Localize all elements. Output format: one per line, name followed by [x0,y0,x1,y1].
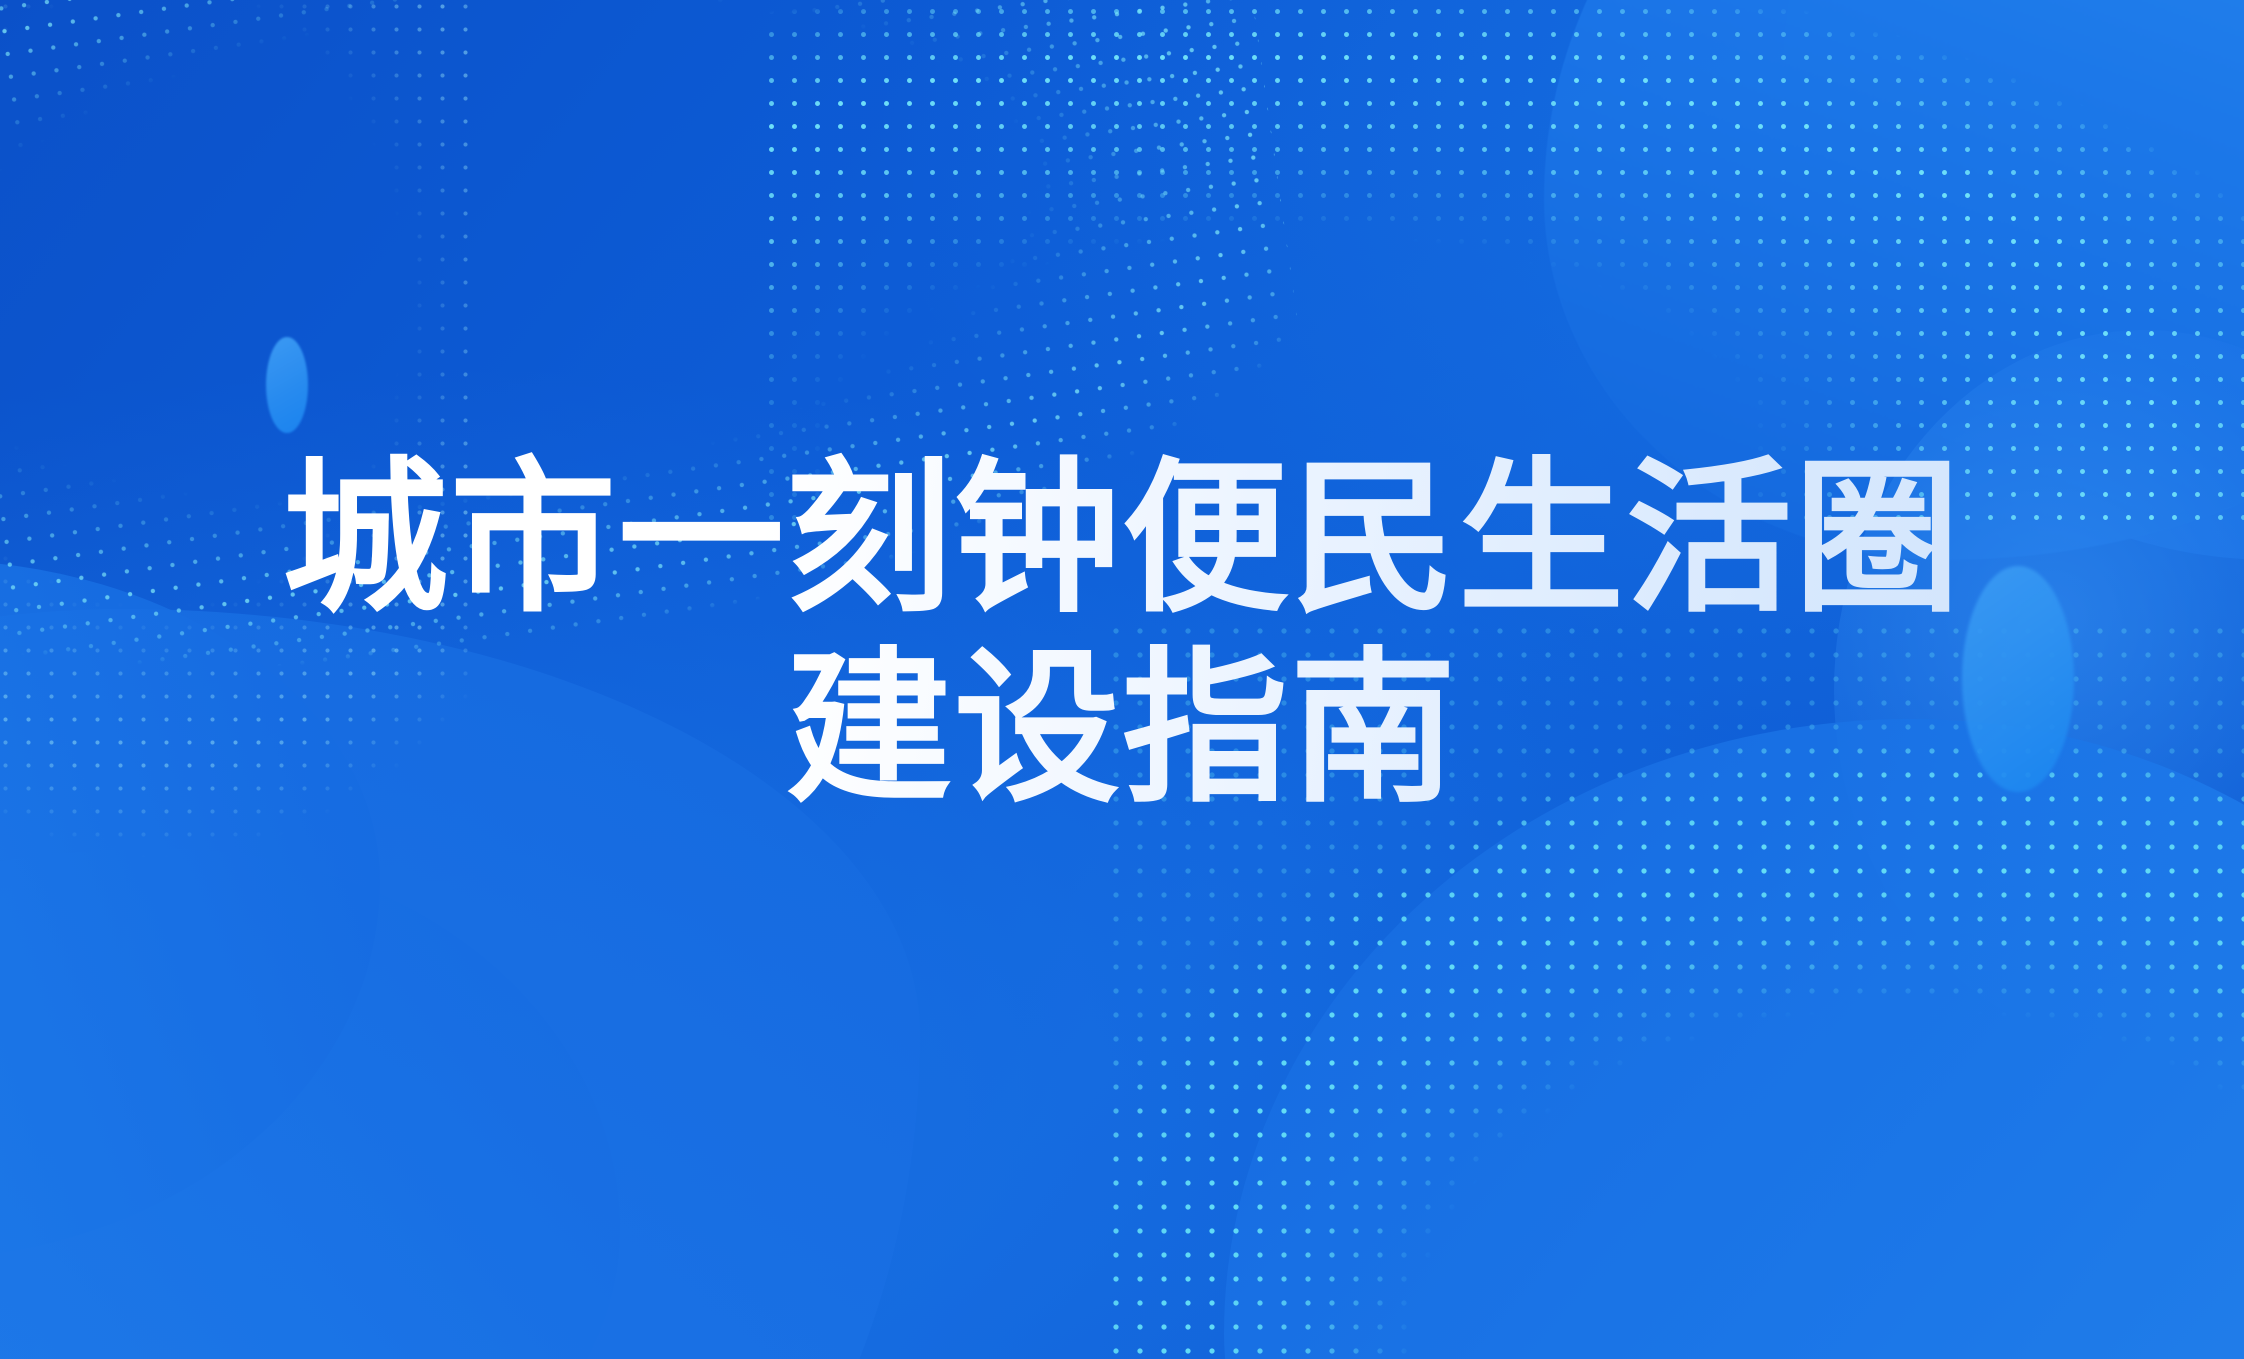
poster-title: 城市一刻钟便民生活圈 建设指南 [0,446,2244,823]
poster-canvas: 城市一刻钟便民生活圈 建设指南 [0,0,2244,1359]
title-line-2: 建设指南 [0,636,2244,824]
title-line-1: 城市一刻钟便民生活圈 [0,446,2244,634]
